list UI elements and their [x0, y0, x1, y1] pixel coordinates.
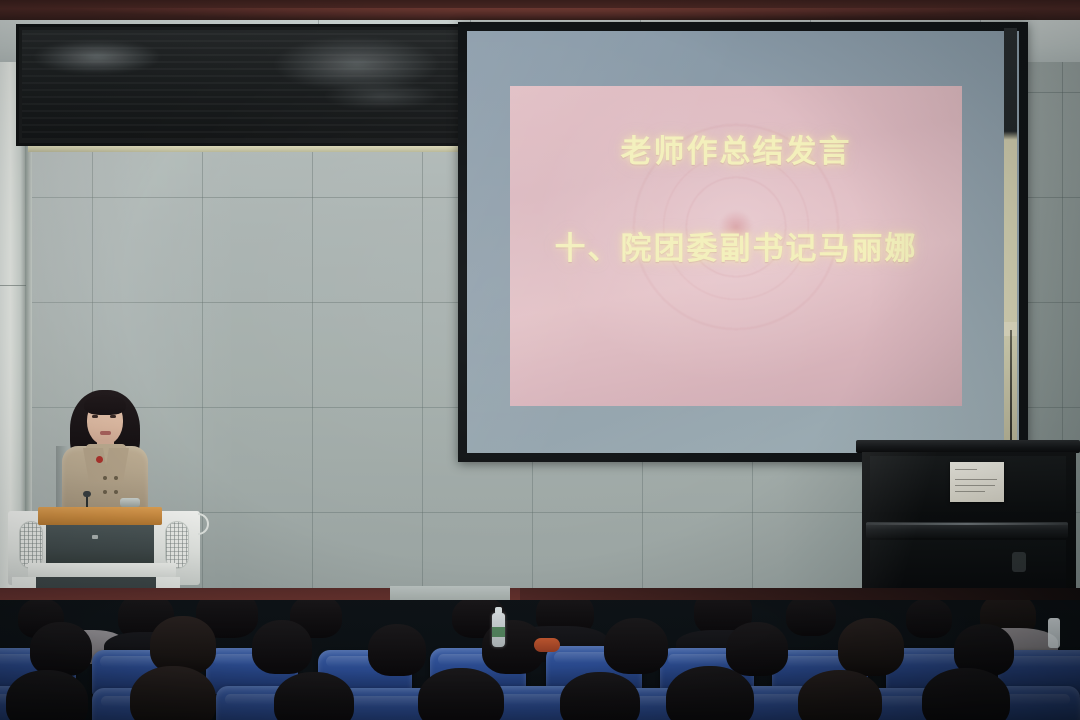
- audience-head: [418, 668, 504, 720]
- blackboard-surface: [22, 30, 462, 140]
- audience-head: [252, 620, 312, 674]
- projected-slide: 十、院团委副书记马丽娜 老师作总结发言: [510, 86, 962, 406]
- speaker-coat-button: [114, 490, 118, 494]
- paper-line: [955, 485, 995, 486]
- projection-screen[interactable]: 十、院团委副书记马丽娜 老师作总结发言: [458, 22, 1028, 462]
- speaker-coat-button: [103, 476, 107, 480]
- audience-head: [786, 600, 836, 636]
- piano-knob: [1012, 552, 1026, 572]
- audience-head: [560, 672, 640, 720]
- piano-sheet-paper: [950, 462, 1004, 502]
- audience-head: [798, 670, 882, 720]
- audience-head: [838, 618, 904, 676]
- audience-area: [0, 600, 1080, 720]
- lectern-hook: [198, 513, 209, 535]
- speaker-eye-left: [92, 415, 98, 418]
- audience-head: [30, 622, 92, 676]
- speaker-mouth: [100, 431, 111, 435]
- audience-head: [130, 666, 216, 720]
- lectern-wooden-top: [38, 507, 162, 525]
- blackboard-glare: [32, 40, 162, 74]
- piano-fallboard: [866, 522, 1068, 538]
- audience-head: [604, 618, 668, 674]
- paper-line: [955, 491, 985, 492]
- speaker-badge: [96, 456, 103, 463]
- lectern-speaker-grille-left: [19, 521, 43, 569]
- lectern-object: [120, 498, 140, 507]
- audience-head: [368, 624, 426, 676]
- lectern-speaker-grille-right: [165, 521, 189, 569]
- slide-title-line-1: 十、院团委副书记马丽娜: [510, 227, 962, 271]
- lectern-front-panel: [46, 525, 154, 563]
- speaker-coat-button: [103, 490, 107, 494]
- audience-head: [274, 672, 354, 720]
- water-bottle-icon: [1048, 618, 1060, 648]
- blackboard-glare: [322, 82, 442, 110]
- water-bottle-label: [492, 627, 505, 637]
- paper-line: [955, 469, 977, 470]
- blackboard: [16, 24, 468, 146]
- audience-head: [922, 668, 1010, 720]
- flower-bouquet-icon: [534, 638, 560, 652]
- slide-title-line-2: 老师作总结发言: [510, 130, 962, 174]
- wall-strip-cord: [1010, 330, 1012, 448]
- audience-head: [6, 670, 88, 720]
- audience-head: [150, 616, 216, 674]
- speaker-eye-right: [110, 415, 116, 418]
- paper-line: [955, 479, 997, 480]
- ceiling-band: [0, 0, 1080, 22]
- audience-head: [666, 666, 754, 720]
- audience-head: [726, 622, 788, 676]
- speaker-coat-button: [114, 476, 118, 480]
- microphone-icon: [86, 495, 88, 507]
- speaker-fringe: [84, 395, 126, 415]
- audience-head: [906, 600, 952, 638]
- lecture-hall-photo: 十、院团委副书记马丽娜 老师作总结发言: [0, 0, 1080, 720]
- pillar-joint: [0, 285, 26, 286]
